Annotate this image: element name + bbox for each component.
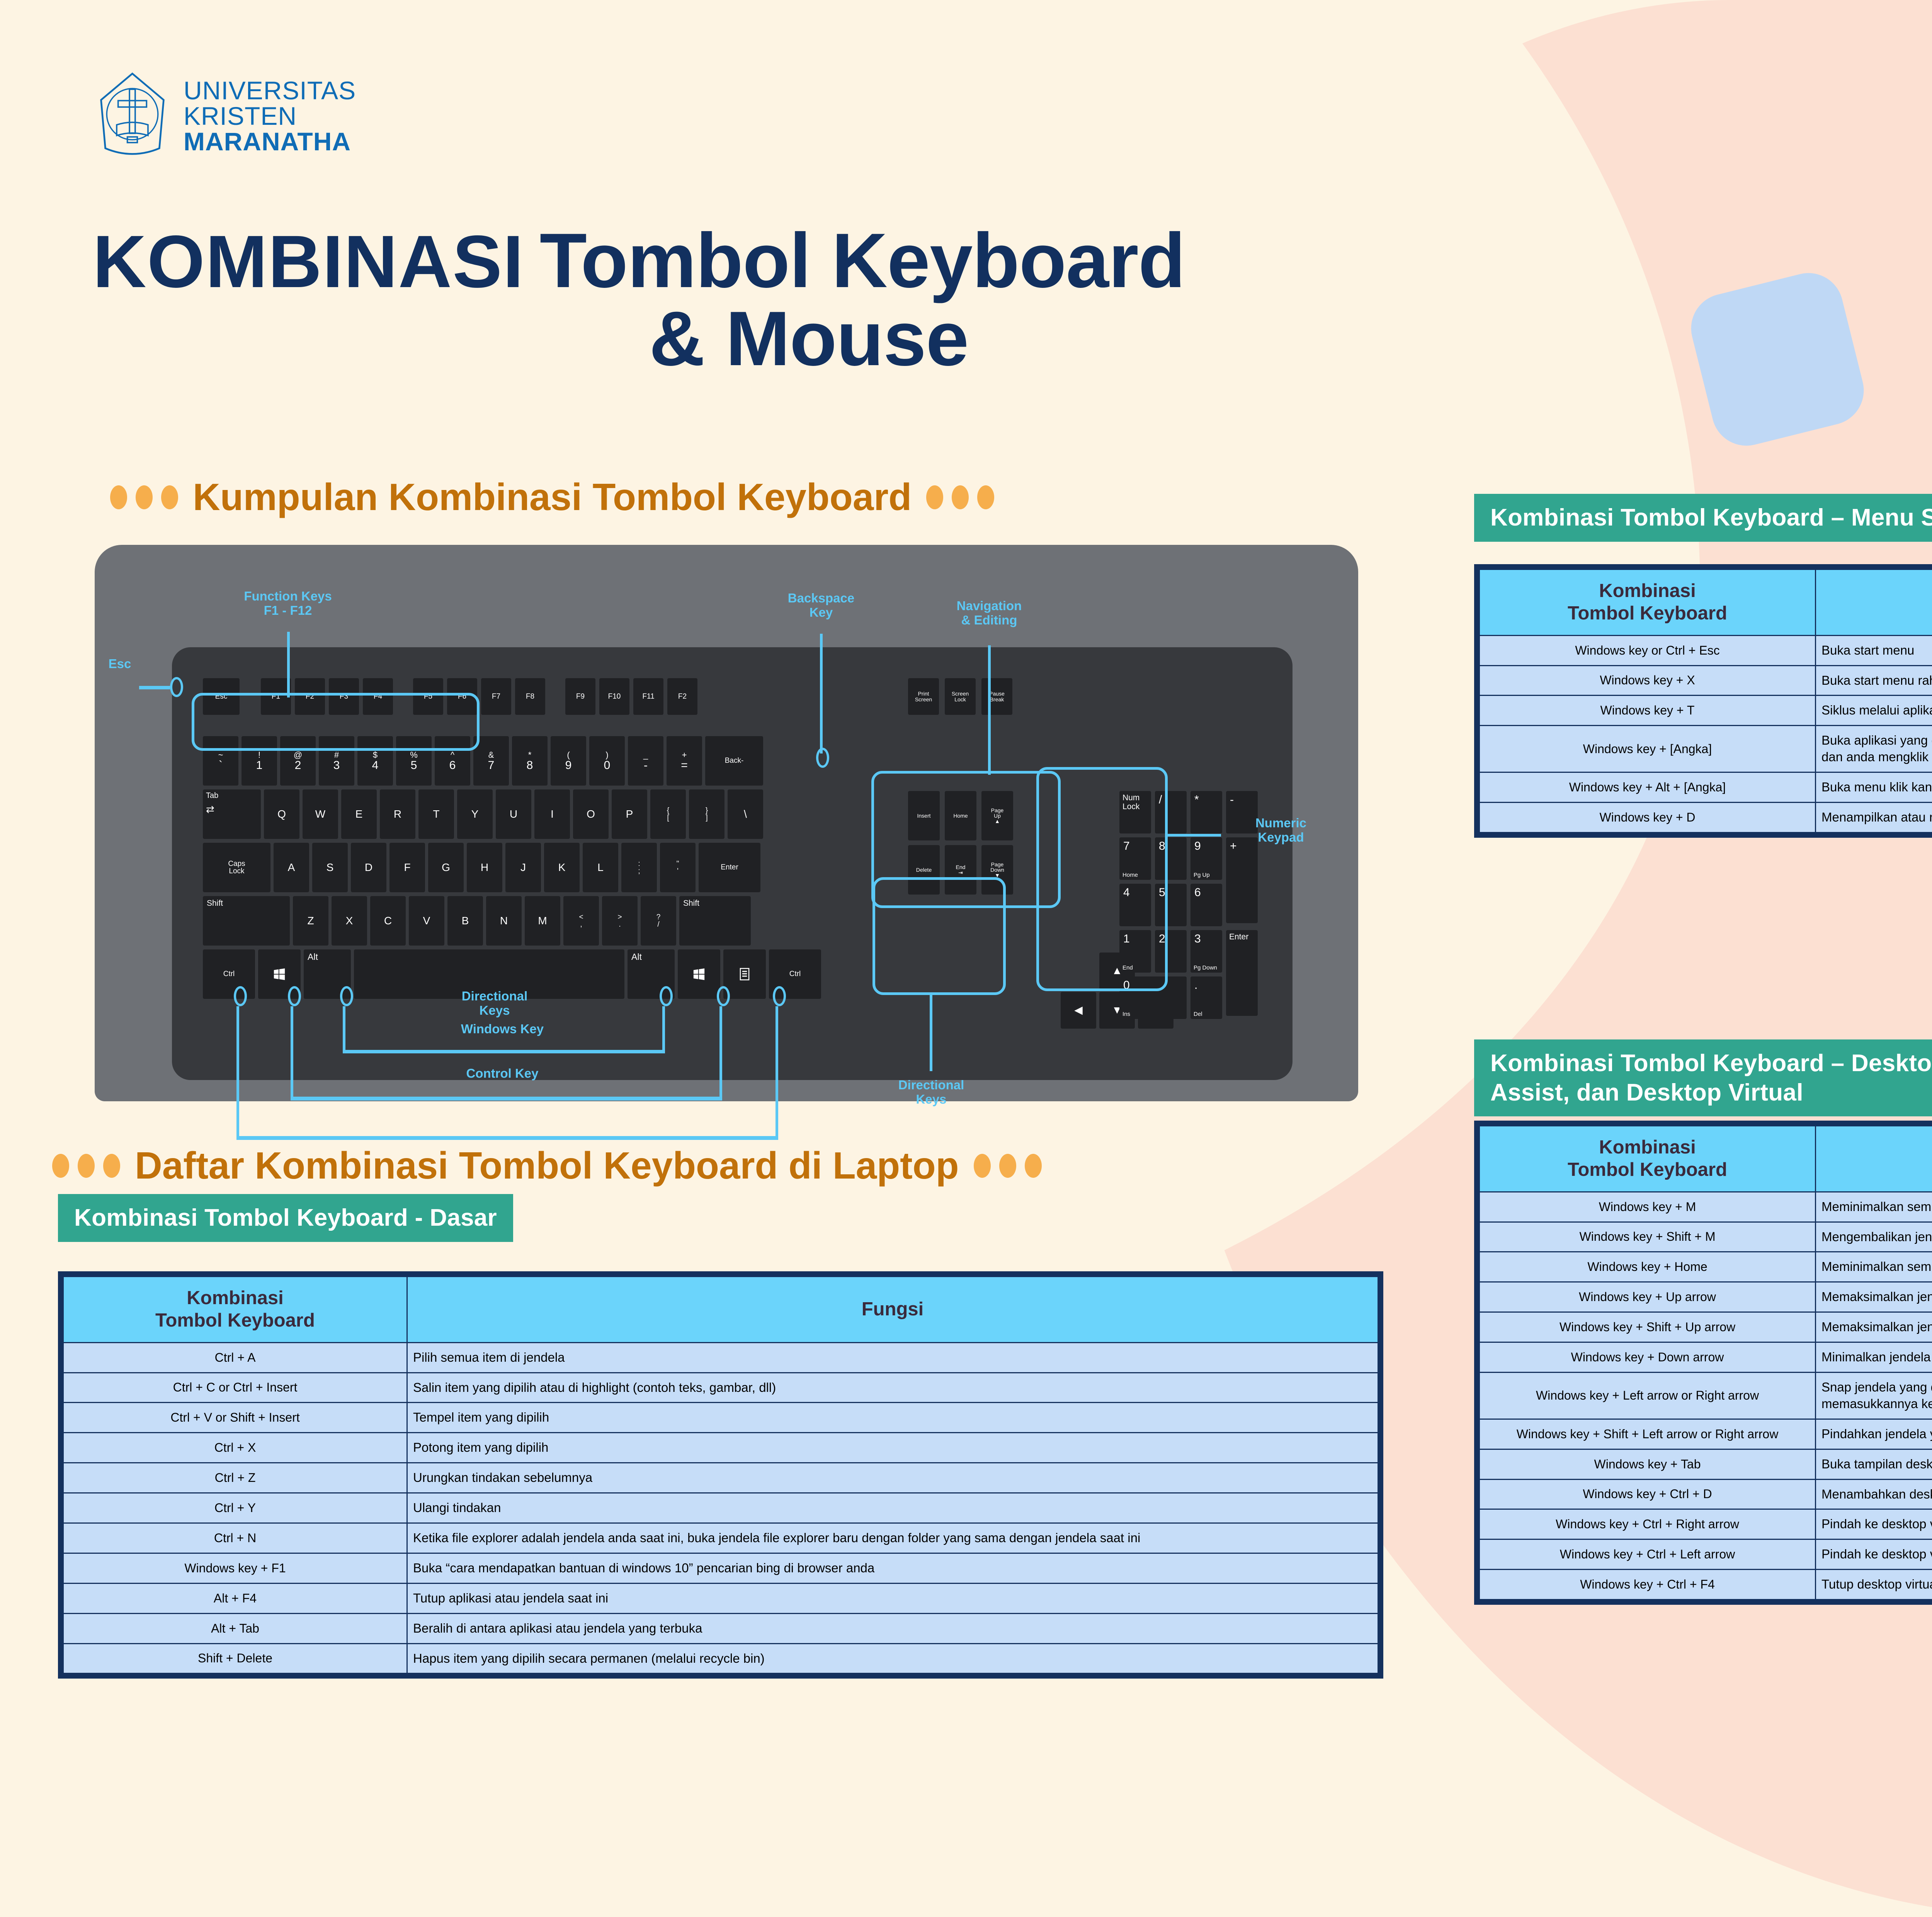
cell-function: Tempel item yang dipilih: [407, 1403, 1378, 1433]
table-row: Ctrl + YUlangi tindakan: [63, 1493, 1378, 1523]
callout-navigation-line: [988, 645, 991, 775]
table-taskbar-grid: Kombinasi Tombol Keyboard Fungsi Windows…: [1479, 569, 1932, 833]
keyboard-key: O: [573, 789, 609, 839]
cell-combo: Windows key + F1: [63, 1553, 407, 1583]
callout-dir-line-right: [662, 1006, 665, 1053]
maranatha-shield-icon: [97, 71, 168, 160]
cell-function: Tutup desktop virtual saat ini: [1816, 1570, 1932, 1600]
table-row: Ctrl + V or Shift + InsertTempel item ya…: [63, 1403, 1378, 1433]
keyboard-key: (9: [551, 736, 586, 786]
table-desktop-grid: Kombinasi Tombol Keyboard Fungsi Windows…: [1479, 1125, 1932, 1600]
keyboard-key: Shift: [679, 896, 751, 946]
table-row: Windows key + Shift + MMengembalikan jen…: [1480, 1222, 1932, 1252]
logo-line-2: KRISTEN: [184, 103, 356, 129]
keyboard-key: Enter: [699, 843, 760, 892]
cell-function: Beralih di antara aplikasi atau jendela …: [407, 1613, 1378, 1643]
callout-function-keys-box: [192, 693, 480, 751]
callout-windows-key: Windows Key: [439, 1022, 566, 1036]
cell-function: Hapus item yang dipilih secara permanen …: [407, 1643, 1378, 1674]
table-row: Windows key + DMenampilkan atau menyembu…: [1480, 802, 1932, 832]
section-heading-daftar-text: Daftar Kombinasi Tombol Keyboard di Lapt…: [135, 1144, 959, 1187]
cell-combo: Windows key + X: [1480, 665, 1816, 696]
callout-directional-right-box: [872, 877, 1006, 995]
keyboard-key: ◀: [1061, 992, 1096, 1029]
keyboard-key: V: [409, 896, 444, 946]
dots-right-icon: [926, 485, 994, 509]
callout-control-key: Control Key: [439, 1067, 566, 1081]
callout-dir-right-line: [930, 994, 932, 1071]
cell-combo: Ctrl + X: [63, 1433, 407, 1463]
keyboard-key: M: [525, 896, 560, 946]
callout-ctrl-line-bottom: [236, 1136, 778, 1140]
keyboard-key: F8: [515, 678, 545, 715]
keyboard-key: ?/: [641, 896, 676, 946]
keyboard-key: Shift: [203, 896, 290, 946]
cell-function: Menampilkan atau menyembunyikan desktop …: [1816, 802, 1932, 832]
cell-function: Ketika file explorer adalah jendela anda…: [407, 1523, 1378, 1553]
cell-combo: Windows key + Ctrl + Left arrow: [1480, 1539, 1816, 1570]
cell-function: Memaksimalkan jendela aktif secara verti…: [1816, 1312, 1932, 1342]
cell-function: Pindah ke desktop virtual berikutnya (ke…: [1816, 1509, 1932, 1539]
keyboard-key: T: [418, 789, 454, 839]
keyboard-key: [723, 949, 766, 999]
keyboard-key: >.: [602, 896, 638, 946]
callout-directional-top: Directional Keys: [429, 989, 560, 1018]
cell-combo: Windows key + Ctrl + F4: [1480, 1570, 1816, 1600]
callout-esc: Esc: [97, 657, 143, 671]
keyboard-diagram: EscF1F2F3F4F5F6F7F8F9F10F11F2PrintScreen…: [95, 545, 1358, 1101]
col-header-func: Fungsi: [407, 1277, 1378, 1343]
cell-function: Siklus melalui aplikasi (termasuk aplika…: [1816, 696, 1932, 726]
keyboard-key: Z: [293, 896, 328, 946]
keyboard-key: :;: [621, 843, 657, 892]
cell-combo: Windows key + Left arrow or Right arrow: [1480, 1372, 1816, 1419]
keyboard-key: *: [1190, 791, 1222, 833]
keyboard-key: "': [660, 843, 696, 892]
table-row: Windows key + Ctrl + Right arrowPindah k…: [1480, 1509, 1932, 1539]
banner-desktop: Kombinasi Tombol Keyboard – Desktop Wind…: [1474, 1039, 1932, 1116]
table-row: Windows key + TabBuka tampilan desktop v…: [1480, 1449, 1932, 1479]
section-heading-kumpulan-text: Kumpulan Kombinasi Tombol Keyboard: [193, 475, 912, 519]
table-row: Windows key + Ctrl + DMenambahkan deskto…: [1480, 1479, 1932, 1509]
callout-dir-line-bottom: [343, 1050, 665, 1053]
cell-function: Pindah ke desktop virtual sebelumnya (ke…: [1816, 1539, 1932, 1570]
keyboard-key: I: [534, 789, 570, 839]
keyboard-key: \: [728, 789, 763, 839]
cell-combo: Windows key + Shift + M: [1480, 1222, 1816, 1252]
table-row: Windows key + XBuka start menu rahasia: [1480, 665, 1932, 696]
callout-esc-ring: [170, 677, 183, 697]
cell-combo: Ctrl + V or Shift + Insert: [63, 1403, 407, 1433]
keyboard-key: +: [1226, 837, 1258, 923]
keyboard-key: F7: [481, 678, 511, 715]
table-row: Ctrl + ZUrungkan tindakan sebelumnya: [63, 1463, 1378, 1493]
cell-combo: Windows key + Ctrl + Right arrow: [1480, 1509, 1816, 1539]
table-header-row: Kombinasi Tombol Keyboard Fungsi: [1480, 570, 1932, 636]
col-header-combo: Kombinasi Tombol Keyboard: [1480, 1126, 1816, 1192]
keyboard-key: R: [380, 789, 415, 839]
keyboard-key: Q: [264, 789, 299, 839]
keyboard-key: K: [544, 843, 580, 892]
keyboard-key: L: [583, 843, 618, 892]
dots-left-icon: [110, 485, 178, 509]
keyboard-key: +=: [667, 736, 702, 786]
cell-combo: Windows key + M: [1480, 1192, 1816, 1222]
cell-combo: Windows key or Ctrl + Esc: [1480, 635, 1816, 665]
cell-combo: Ctrl + C or Ctrl + Insert: [63, 1373, 407, 1403]
table-row: Windows key + TSiklus melalui aplikasi (…: [1480, 696, 1932, 726]
cell-combo: Windows key + Shift + Left arrow or Righ…: [1480, 1419, 1816, 1449]
cell-function: Memaksimalkan jendela yang dipilih: [1816, 1282, 1932, 1312]
keyboard-key: X: [332, 896, 367, 946]
keyboard-key: G: [428, 843, 464, 892]
title-word-kombinasi: KOMBINASI: [93, 219, 524, 304]
banner-taskbar: Kombinasi Tombol Keyboard – Menu Start d…: [1474, 494, 1932, 542]
keyboard-key: D: [351, 843, 386, 892]
cell-combo: Windows key + Down arrow: [1480, 1342, 1816, 1373]
keyboard-key: C: [370, 896, 406, 946]
table-row: Windows key + Ctrl + F4Tutup desktop vir…: [1480, 1570, 1932, 1600]
keyboard-key: 9Pg Up: [1190, 837, 1222, 880]
cell-function: Tutup aplikasi atau jendela saat ini: [407, 1583, 1378, 1613]
callout-dir-line-left: [343, 1006, 345, 1053]
page-title: KOMBINASI Tombol Keyboard & Mouse: [93, 216, 1600, 383]
callout-ctrl-line-right: [776, 1006, 778, 1140]
keyboard-key: B: [447, 896, 483, 946]
keyboard-key: Back-: [705, 736, 763, 786]
callout-ctrl-line-left: [236, 1006, 239, 1140]
keyboard-key: }]: [689, 789, 724, 839]
cell-combo: Windows key + Home: [1480, 1252, 1816, 1282]
callout-function-keys-line: [287, 632, 290, 697]
callout-win-line-left: [291, 1006, 293, 1099]
cell-function: Buka start menu: [1816, 635, 1932, 665]
table-desktop: Kombinasi Tombol Keyboard Fungsi Windows…: [1474, 1121, 1932, 1605]
title-word-mouse: & Mouse: [649, 294, 1600, 383]
table-row: Windows key + Up arrowMemaksimalkan jend…: [1480, 1282, 1932, 1312]
keyboard-key: Ctrl: [203, 949, 255, 999]
callout-win-ring-left: [288, 986, 301, 1006]
callout-directional-right: Directional Keys: [869, 1078, 993, 1107]
keyboard-key: *8: [512, 736, 548, 786]
cell-function: Salin item yang dipilih atau di highligh…: [407, 1373, 1378, 1403]
logo-line-3: MARANATHA: [184, 129, 356, 154]
cell-combo: Windows key + [Angka]: [1480, 726, 1816, 772]
callout-win-line-right: [719, 1006, 722, 1099]
cell-combo: Windows key + Tab: [1480, 1449, 1816, 1479]
keyboard-key: F10: [599, 678, 629, 715]
callout-function-keys: Function Keys F1 - F12: [220, 589, 355, 618]
callout-numeric-line: [1167, 834, 1221, 837]
cell-function: Meminimalkan semua jendela yang terbuka: [1816, 1192, 1932, 1222]
keyboard-key: 6: [1190, 884, 1222, 926]
callout-win-ring-right: [717, 986, 730, 1006]
table-taskbar-body: Windows key or Ctrl + EscBuka start menu…: [1480, 635, 1932, 832]
keyboard-key: F9: [565, 678, 595, 715]
cell-combo: Windows key + Up arrow: [1480, 1282, 1816, 1312]
table-row: Windows key + Down arrowMinimalkan jende…: [1480, 1342, 1932, 1373]
table-row: Windows key + HomeMeminimalkan semua jen…: [1480, 1252, 1932, 1282]
cell-function: Urungkan tindakan sebelumnya: [407, 1463, 1378, 1493]
cell-combo: Ctrl + Z: [63, 1463, 407, 1493]
cell-combo: Windows key + Alt + [Angka]: [1480, 772, 1816, 803]
col-header-combo: Kombinasi Tombol Keyboard: [63, 1277, 407, 1343]
col-header-combo: Kombinasi Tombol Keyboard: [1480, 570, 1816, 636]
cell-combo: Ctrl + N: [63, 1523, 407, 1553]
keyboard-key: Y: [457, 789, 493, 839]
cell-combo: Ctrl + Y: [63, 1493, 407, 1523]
table-row: Ctrl + APilih semua item di jendela: [63, 1342, 1378, 1373]
col-header-func: Fungsi: [1816, 570, 1932, 636]
keyboard-key: [678, 949, 720, 999]
table-row: Ctrl + C or Ctrl + InsertSalin item yang…: [63, 1373, 1378, 1403]
table-row: Alt + TabBeralih di antara aplikasi atau…: [63, 1613, 1378, 1643]
cell-combo: Ctrl + A: [63, 1342, 407, 1373]
table-header-row: Kombinasi Tombol Keyboard Fungsi: [63, 1277, 1378, 1343]
keyboard-key: {[: [650, 789, 686, 839]
table-row: Alt + F4Tutup aplikasi atau jendela saat…: [63, 1583, 1378, 1613]
cell-combo: Alt + F4: [63, 1583, 407, 1613]
callout-win-line-bottom: [291, 1097, 722, 1101]
dots-left-icon-2: [52, 1154, 120, 1178]
section-heading-kumpulan: Kumpulan Kombinasi Tombol Keyboard: [110, 475, 994, 519]
dots-right-icon-2: [974, 1154, 1042, 1178]
cell-combo: Windows key + Shift + Up arrow: [1480, 1312, 1816, 1342]
callout-ctrl-ring-right: [773, 986, 786, 1006]
table-header-row: Kombinasi Tombol Keyboard Fungsi: [1480, 1126, 1932, 1192]
keyboard-key: U: [496, 789, 531, 839]
cell-function: Mengembalikan jendela yang diminimalkan: [1816, 1222, 1932, 1252]
cell-function: Buka start menu rahasia: [1816, 665, 1932, 696]
callout-numeric-keypad: Numeric Keypad: [1219, 816, 1343, 845]
cell-function: Buka aplikasi yang disematkan di posisi …: [1816, 726, 1932, 772]
cell-function: Pilih semua item di jendela: [407, 1342, 1378, 1373]
callout-dir-ring-right: [660, 986, 673, 1006]
keyboard-key: S: [312, 843, 348, 892]
keyboard-key: )0: [589, 736, 625, 786]
table-row: Shift + DeleteHapus item yang dipilih se…: [63, 1643, 1378, 1674]
keyboard-key: .Del: [1190, 976, 1222, 1019]
keyboard-key: <,: [563, 896, 599, 946]
table-dasar: Kombinasi Tombol Keyboard Fungsi Ctrl + …: [58, 1271, 1383, 1679]
table-row: Windows key + [Angka]Buka aplikasi yang …: [1480, 726, 1932, 772]
table-row: Windows key + Shift + Up arrowMemaksimal…: [1480, 1312, 1932, 1342]
section-heading-daftar: Daftar Kombinasi Tombol Keyboard di Lapt…: [52, 1144, 1042, 1187]
table-desktop-body: Windows key + MMeminimalkan semua jendel…: [1480, 1192, 1932, 1599]
callout-dir-ring-left: [340, 986, 353, 1006]
cell-function: Potong item yang dipilih: [407, 1433, 1378, 1463]
cell-function: Ulangi tindakan: [407, 1493, 1378, 1523]
table-row: Windows key or Ctrl + EscBuka start menu: [1480, 635, 1932, 665]
keyboard-key: N: [486, 896, 522, 946]
keyboard-key: F: [389, 843, 425, 892]
cell-combo: Windows key + T: [1480, 696, 1816, 726]
callout-backspace-ring: [816, 748, 829, 768]
cell-function: Menambahkan desktop virtual baru: [1816, 1479, 1932, 1509]
keyboard-key: E: [341, 789, 377, 839]
table-dasar-grid: Kombinasi Tombol Keyboard Fungsi Ctrl + …: [63, 1276, 1379, 1674]
cell-function: Meminimalkan semua jendela kecuali jende…: [1816, 1252, 1932, 1282]
table-row: Windows key + Alt + [Angka]Buka menu kli…: [1480, 772, 1932, 803]
keyboard-key: Enter: [1226, 930, 1258, 1016]
cell-function: Buka menu klik kanan untuk aplikasi yang…: [1816, 772, 1932, 803]
table-row: Ctrl + NKetika file explorer adalah jend…: [63, 1523, 1378, 1553]
cell-combo: Windows key + D: [1480, 802, 1816, 832]
keyboard-key: F11: [633, 678, 663, 715]
callout-numeric-box: [1036, 767, 1168, 991]
keyboard-key: H: [467, 843, 502, 892]
col-header-func: Fungsi: [1816, 1126, 1932, 1192]
cell-function: Buka tampilan desktop virtual: [1816, 1449, 1932, 1479]
keyboard-key: W: [303, 789, 338, 839]
keyboard-key: A: [274, 843, 309, 892]
cell-function: Snap jendela yang dipilih ke kiri atau k…: [1816, 1372, 1932, 1419]
cell-function: Minimalkan jendela yang dipilih: [1816, 1342, 1932, 1373]
table-row: Ctrl + XPotong item yang dipilih: [63, 1433, 1378, 1463]
callout-backspace: Backspace Key: [763, 591, 879, 620]
table-taskbar: Kombinasi Tombol Keyboard Fungsi Windows…: [1474, 564, 1932, 838]
cell-combo: Shift + Delete: [63, 1643, 407, 1674]
callout-backspace-line: [820, 634, 823, 754]
banner-dasar: Kombinasi Tombol Keyboard - Dasar: [58, 1194, 513, 1242]
keyboard-key: P: [612, 789, 647, 839]
keyboard-key: _-: [628, 736, 663, 786]
keyboard-key: ScreenLock: [945, 678, 976, 715]
cell-function: Buka “cara mendapatkan bantuan di window…: [407, 1553, 1378, 1583]
callout-ctrl-ring-left: [234, 986, 247, 1006]
cell-combo: Alt + Tab: [63, 1613, 407, 1643]
title-word-tombol-keyboard: Tombol Keyboard: [540, 216, 1185, 305]
keyboard-key: F2: [667, 678, 697, 715]
cell-combo: Windows key + Ctrl + D: [1480, 1479, 1816, 1509]
table-row: Windows key + Ctrl + Left arrowPindah ke…: [1480, 1539, 1932, 1570]
table-row: Windows key + F1Buka “cara mendapatkan b…: [63, 1553, 1378, 1583]
keyboard-key: Tab⇄: [203, 789, 261, 839]
table-row: Windows key + Left arrow or Right arrowS…: [1480, 1372, 1932, 1419]
callout-esc-line: [139, 686, 170, 689]
table-row: Windows key + MMeminimalkan semua jendel…: [1480, 1192, 1932, 1222]
table-dasar-body: Ctrl + APilih semua item di jendelaCtrl …: [63, 1342, 1378, 1674]
logo-line-1: UNIVERSITAS: [184, 78, 356, 103]
callout-navigation: Navigation & Editing: [923, 599, 1055, 628]
keyboard-key: CapsLock: [203, 843, 270, 892]
cell-function: Pindahkan jendela yang dipilih ke monito…: [1816, 1419, 1932, 1449]
keyboard-key: J: [505, 843, 541, 892]
keyboard-key: 3Pg Down: [1190, 930, 1222, 973]
keyboard-key: PauseBreak: [981, 678, 1012, 715]
table-row: Windows key + Shift + Left arrow or Righ…: [1480, 1419, 1932, 1449]
university-logo: UNIVERSITAS KRISTEN MARANATHA: [97, 71, 356, 160]
keyboard-key: PrintScreen: [908, 678, 939, 715]
